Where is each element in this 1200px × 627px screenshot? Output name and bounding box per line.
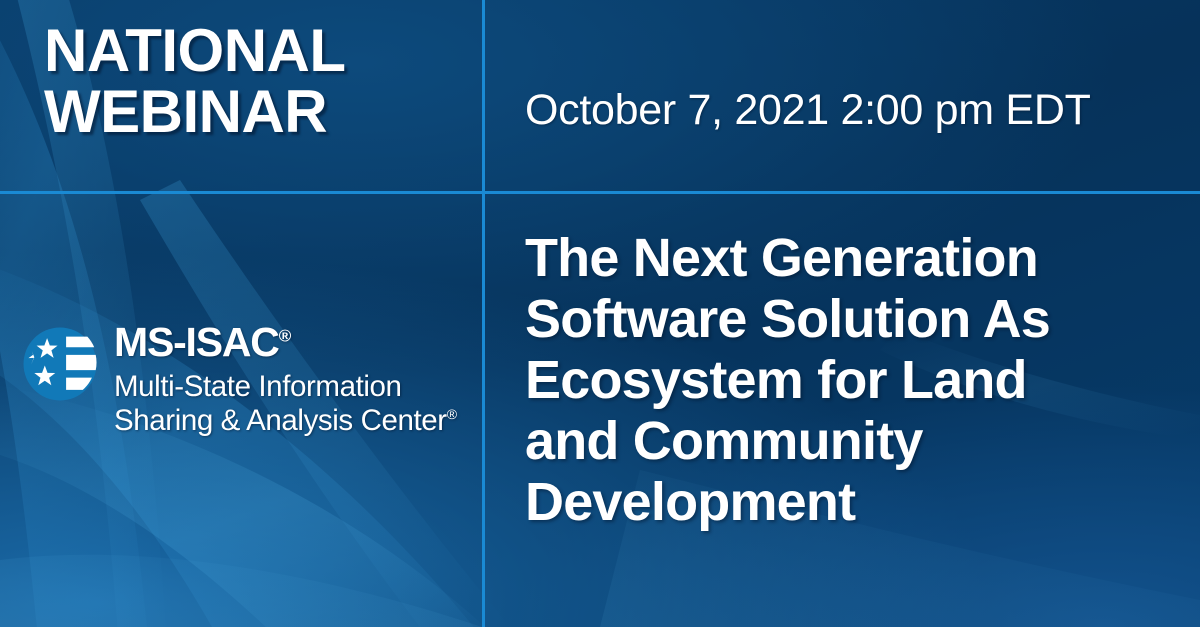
vertical-divider-rule bbox=[482, 0, 485, 627]
webinar-promo-banner: NATIONAL WEBINAR October 7, 2021 2:00 pm… bbox=[0, 0, 1200, 627]
kicker-line-2: WEBINAR bbox=[44, 81, 464, 142]
headline-line-1: The Next Generation bbox=[525, 228, 1165, 289]
ms-isac-flag-circle-emblem bbox=[22, 326, 98, 402]
ms-isac-wordmark: MS-ISAC® bbox=[114, 322, 457, 363]
ms-isac-wordmark-text: MS-ISAC bbox=[114, 319, 279, 365]
ms-isac-tagline: Multi-State Information Sharing & Analys… bbox=[114, 370, 457, 437]
registered-trademark-icon-tagline: ® bbox=[447, 406, 457, 422]
horizontal-divider-rule bbox=[0, 191, 1200, 194]
webinar-headline: The Next Generation Software Solution As… bbox=[525, 228, 1165, 533]
headline-line-5: Development bbox=[525, 472, 1165, 533]
headline-line-3: Ecosystem for Land bbox=[525, 350, 1165, 411]
ms-isac-logo: MS-ISAC® Multi-State Information Sharing… bbox=[22, 322, 457, 437]
headline-line-2: Software Solution As bbox=[525, 289, 1165, 350]
ms-isac-tagline-line-2-wrap: Sharing & Analysis Center® bbox=[114, 404, 457, 438]
kicker-national-webinar: NATIONAL WEBINAR bbox=[44, 20, 464, 142]
registered-trademark-icon: ® bbox=[279, 326, 292, 345]
ms-isac-tagline-line-1: Multi-State Information bbox=[114, 370, 457, 404]
ms-isac-tagline-line-2: Sharing & Analysis Center bbox=[114, 404, 447, 437]
headline-line-4: and Community bbox=[525, 411, 1165, 472]
webinar-datetime: October 7, 2021 2:00 pm EDT bbox=[525, 86, 1091, 135]
ms-isac-logo-text: MS-ISAC® Multi-State Information Sharing… bbox=[114, 322, 457, 437]
kicker-line-1: NATIONAL bbox=[44, 20, 464, 81]
